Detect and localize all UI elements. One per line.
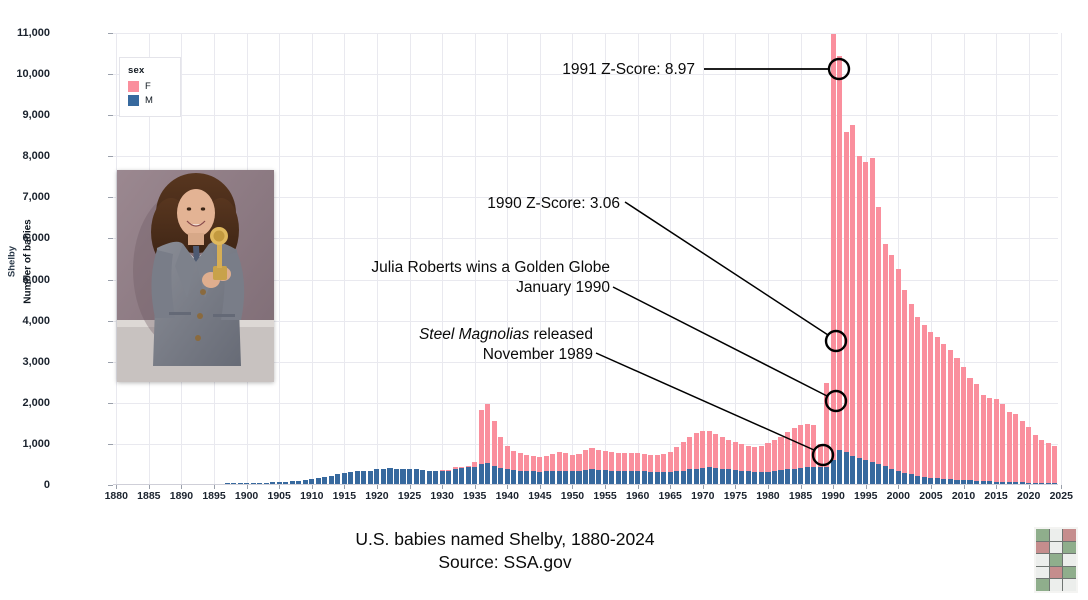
bar-segment-female <box>805 424 810 467</box>
legend-swatch-female <box>128 81 139 92</box>
bar-segment-male <box>720 469 725 485</box>
x-axis-tick-label: 2020 <box>1017 490 1040 502</box>
bar-column[interactable] <box>589 448 594 485</box>
bar-segment-male <box>818 467 823 485</box>
bar-column[interactable] <box>518 453 523 485</box>
bar-column[interactable] <box>400 469 405 485</box>
caption-source: Source: SSA.gov <box>0 551 1010 574</box>
bar-segment-male <box>616 471 621 485</box>
logo-cell <box>1036 554 1049 566</box>
bar-column[interactable] <box>596 450 601 485</box>
y-axis-tick-mark <box>108 156 113 157</box>
logo-cell <box>1063 579 1076 591</box>
bar-column[interactable] <box>954 358 959 485</box>
bar-column[interactable] <box>440 470 445 485</box>
bar-segment-female <box>498 437 503 468</box>
bar-segment-female <box>603 451 608 470</box>
bar-segment-male <box>498 468 503 485</box>
bar-segment-female <box>909 304 914 475</box>
bar-segment-female <box>707 431 712 467</box>
bar-column[interactable] <box>739 444 744 485</box>
bar-segment-male <box>479 464 484 485</box>
bar-column[interactable] <box>720 437 725 485</box>
bar-column[interactable] <box>896 269 901 485</box>
x-axis-tick-label: 1990 <box>821 490 844 502</box>
bar-column[interactable] <box>928 332 933 485</box>
bar-column[interactable] <box>818 444 823 485</box>
legend[interactable]: sex F M <box>119 57 181 117</box>
x-axis-tick-label: 1900 <box>235 490 258 502</box>
bar-column[interactable] <box>850 125 855 485</box>
bar-column[interactable] <box>427 471 432 485</box>
bar-column[interactable] <box>915 317 920 485</box>
bar-segment-female <box>876 207 881 464</box>
bar-column[interactable] <box>837 56 842 485</box>
y-axis-outer-title: Shelby <box>7 212 18 312</box>
bar-column[interactable] <box>570 455 575 485</box>
bar-segment-female <box>759 446 764 472</box>
bar-column[interactable] <box>420 470 425 485</box>
bar-column[interactable] <box>792 428 797 485</box>
bar-segment-female <box>896 269 901 470</box>
y-axis-tick-label: 5,000 <box>0 274 50 286</box>
bar-segment-male <box>400 469 405 485</box>
bar-column[interactable] <box>466 466 471 485</box>
x-axis-tick-label: 1955 <box>593 490 616 502</box>
bar-column[interactable] <box>368 471 373 485</box>
bar-segment-female <box>492 421 497 466</box>
bar-segment-male <box>518 471 523 485</box>
bar-column[interactable] <box>785 432 790 485</box>
bar-column[interactable] <box>374 469 379 485</box>
bar-segment-male <box>896 471 901 485</box>
x-axis-tick-mark <box>442 485 443 489</box>
bar-segment-female <box>889 255 894 469</box>
bar-segment-female <box>570 455 575 471</box>
bar-column[interactable] <box>1013 414 1018 485</box>
bar-column[interactable] <box>674 447 679 485</box>
bar-column[interactable] <box>635 453 640 485</box>
bar-segment-male <box>850 456 855 485</box>
bar-segment-male <box>459 468 464 485</box>
x-axis-tick-label: 1980 <box>756 490 779 502</box>
bar-segment-male <box>505 469 510 485</box>
bar-column[interactable] <box>798 425 803 485</box>
logo-cell <box>1063 554 1076 566</box>
bar-segment-female <box>505 446 510 469</box>
x-axis-tick-mark <box>605 485 606 489</box>
y-axis-tick-label: 2,000 <box>0 397 50 409</box>
bar-column[interactable] <box>1039 440 1044 485</box>
x-axis-tick-label: 1930 <box>430 490 453 502</box>
bar-segment-male <box>883 466 888 485</box>
x-axis-tick-label: 1975 <box>724 490 747 502</box>
bar-column[interactable] <box>889 255 894 485</box>
x-axis-line <box>113 484 1058 485</box>
bar-segment-female <box>1020 421 1025 483</box>
bar-segment-female <box>948 350 953 479</box>
bar-column[interactable] <box>948 350 953 485</box>
y-axis-tick-label: 4,000 <box>0 315 50 327</box>
bar-segment-male <box>694 469 699 485</box>
bar-column[interactable] <box>576 454 581 485</box>
bar-column[interactable] <box>609 452 614 485</box>
bar-column[interactable] <box>505 446 510 485</box>
x-axis-tick-label: 2000 <box>887 490 910 502</box>
bar-segment-male <box>407 469 412 485</box>
bar-column[interactable] <box>681 442 686 485</box>
x-axis-tick-label: 2010 <box>952 490 975 502</box>
x-axis-tick-label: 1965 <box>659 490 682 502</box>
bar-segment-male <box>778 470 783 485</box>
bar-segment-male <box>733 470 738 485</box>
bar-segment-female <box>1013 414 1018 482</box>
y-axis-tick-label: 9,000 <box>0 109 50 121</box>
bar-column[interactable] <box>1052 446 1057 485</box>
bar-segment-female <box>785 432 790 469</box>
bar-segment-male <box>707 467 712 485</box>
x-axis-tick-mark <box>931 485 932 489</box>
bar-column[interactable] <box>642 454 647 485</box>
bar-segment-male <box>863 460 868 485</box>
bar-segment-male <box>674 471 679 485</box>
bar-column[interactable] <box>707 431 712 485</box>
y-axis-tick-mark <box>108 115 113 116</box>
legend-item-f[interactable]: F <box>128 81 172 92</box>
bar-segment-female <box>746 446 751 471</box>
x-axis-tick-label: 1960 <box>626 490 649 502</box>
bar-column[interactable] <box>453 467 458 485</box>
x-axis-tick-mark <box>866 485 867 489</box>
bar-segment-female <box>648 455 653 472</box>
bar-column[interactable] <box>726 440 731 485</box>
y-axis-tick-label: 1,000 <box>0 438 50 450</box>
bar-segment-female <box>544 456 549 471</box>
logo-cell <box>1050 579 1063 591</box>
bar-segment-female <box>798 425 803 468</box>
bar-column[interactable] <box>550 454 555 485</box>
x-axis-tick-mark <box>214 485 215 489</box>
bar-column[interactable] <box>531 456 536 485</box>
bar-column[interactable] <box>485 404 490 485</box>
bar-segment-male <box>726 469 731 485</box>
bar-column[interactable] <box>629 453 634 485</box>
bar-segment-male <box>792 469 797 485</box>
x-axis-tick-mark <box>801 485 802 489</box>
bar-column[interactable] <box>479 410 484 485</box>
bar-column[interactable] <box>694 433 699 485</box>
bar-column[interactable] <box>941 344 946 485</box>
bar-column[interactable] <box>1026 427 1031 485</box>
bar-column[interactable] <box>557 452 562 485</box>
bar-column[interactable] <box>961 367 966 485</box>
legend-swatch-male <box>128 95 139 106</box>
bar-column[interactable] <box>1000 404 1005 485</box>
y-axis-tick-label: 7,000 <box>0 191 50 203</box>
bar-column[interactable] <box>387 468 392 485</box>
logo-cell <box>1036 567 1049 579</box>
bar-segment-female <box>870 158 875 462</box>
photo-illustration <box>117 170 274 382</box>
bar-segment-male <box>485 463 490 485</box>
x-axis-tick-mark <box>833 485 834 489</box>
y-axis-tick-mark <box>108 403 113 404</box>
bar-column[interactable] <box>537 457 542 485</box>
bar-segment-male <box>629 471 634 485</box>
logo-cell <box>1050 542 1063 554</box>
bar-column[interactable] <box>759 446 764 485</box>
x-axis-tick-mark <box>344 485 345 489</box>
bar-segment-female <box>1007 412 1012 482</box>
bar-column[interactable] <box>778 437 783 485</box>
bar-column[interactable] <box>987 398 992 485</box>
bar-segment-male <box>713 468 718 485</box>
bar-segment-female <box>550 454 555 471</box>
bar-column[interactable] <box>511 451 516 485</box>
bar-segment-female <box>616 453 621 471</box>
bar-segment-female <box>792 428 797 468</box>
bar-segment-female <box>863 162 868 460</box>
bar-segment-female <box>1033 435 1038 482</box>
bar-segment-female <box>967 378 972 481</box>
bar-column[interactable] <box>824 383 829 485</box>
bar-column[interactable] <box>935 337 940 485</box>
bar-segment-male <box>374 469 379 485</box>
gridline-vertical <box>1061 33 1062 485</box>
bar-column[interactable] <box>433 471 438 485</box>
bar-column[interactable] <box>844 132 849 485</box>
bar-column[interactable] <box>355 471 360 485</box>
bar-column[interactable] <box>381 469 386 485</box>
y-axis-tick-mark <box>108 74 113 75</box>
bar-segment-female <box>622 453 627 471</box>
bar-segment-male <box>394 469 399 485</box>
x-axis-tick-mark <box>1029 485 1030 489</box>
bar-column[interactable] <box>603 451 608 485</box>
bar-column[interactable] <box>394 469 399 485</box>
bar-segment-female <box>524 455 529 471</box>
bar-segment-female <box>661 454 666 472</box>
bar-segment-female <box>883 244 888 466</box>
x-axis-tick-label: 1885 <box>137 490 160 502</box>
bar-segment-female <box>557 452 562 470</box>
bar-column[interactable] <box>733 442 738 485</box>
bar-segment-female <box>981 395 986 481</box>
x-axis-tick-label: 1985 <box>789 490 812 502</box>
bar-column[interactable] <box>687 437 692 485</box>
bar-column[interactable] <box>1033 435 1038 485</box>
bar-segment-female <box>596 450 601 470</box>
bar-segment-female <box>844 132 849 453</box>
bar-column[interactable] <box>668 452 673 485</box>
x-axis-tick-mark <box>1061 485 1062 489</box>
bar-segment-female <box>694 433 699 468</box>
bar-column[interactable] <box>883 244 888 485</box>
bar-column[interactable] <box>583 450 588 485</box>
y-axis-tick-label: 8,000 <box>0 150 50 162</box>
bar-column[interactable] <box>909 304 914 485</box>
legend-item-m[interactable]: M <box>128 95 172 106</box>
bar-segment-female <box>479 410 484 464</box>
bar-segment-female <box>915 317 920 475</box>
bar-column[interactable] <box>746 446 751 485</box>
bar-segment-female <box>668 452 673 473</box>
x-axis-tick-mark <box>410 485 411 489</box>
bar-segment-female <box>1046 443 1051 483</box>
bar-segment-female <box>902 290 907 473</box>
x-axis-tick-mark <box>735 485 736 489</box>
bar-segment-female <box>765 443 770 472</box>
corner-grid-logo[interactable] <box>1034 527 1078 593</box>
x-axis-tick-label: 1920 <box>365 490 388 502</box>
bar-segment-female <box>974 384 979 481</box>
y-axis-tick-mark <box>108 444 113 445</box>
bar-segment-female <box>681 442 686 471</box>
bar-column[interactable] <box>414 469 419 485</box>
bar-column[interactable] <box>805 424 810 485</box>
bar-segment-male <box>550 471 555 485</box>
bar-column[interactable] <box>863 162 868 485</box>
bar-column[interactable] <box>974 384 979 485</box>
bar-column[interactable] <box>765 443 770 485</box>
bar-segment-female <box>857 156 862 458</box>
bar-column[interactable] <box>772 440 777 485</box>
bar-segment-male <box>563 471 568 485</box>
x-axis-tick-mark <box>898 485 899 489</box>
bar-column[interactable] <box>811 425 816 485</box>
logo-cell <box>1036 579 1049 591</box>
bar-column[interactable] <box>524 455 529 485</box>
bar-column[interactable] <box>831 34 836 485</box>
bar-column[interactable] <box>361 471 366 485</box>
bar-column[interactable] <box>981 395 986 485</box>
x-axis-tick-label: 1950 <box>561 490 584 502</box>
bar-segment-female <box>1026 427 1031 482</box>
bar-column[interactable] <box>857 156 862 485</box>
bar-segment-male <box>531 471 536 485</box>
x-axis-tick-mark <box>181 485 182 489</box>
bar-segment-male <box>589 469 594 485</box>
bar-segment-female <box>850 125 855 456</box>
bar-segment-female <box>1052 446 1057 483</box>
bar-segment-female <box>687 437 692 469</box>
bar-segment-male <box>433 471 438 485</box>
bar-segment-female <box>778 437 783 471</box>
bar-segment-female <box>928 332 933 478</box>
bar-column[interactable] <box>622 453 627 485</box>
bar-segment-female <box>537 457 542 472</box>
bar-column[interactable] <box>492 421 497 485</box>
bar-segment-male <box>746 471 751 485</box>
bar-segment-male <box>387 468 392 485</box>
x-axis-tick-label: 1895 <box>202 490 225 502</box>
bar-column[interactable] <box>498 437 503 485</box>
x-axis-tick-mark <box>507 485 508 489</box>
x-axis-tick-mark <box>312 485 313 489</box>
bar-segment-male <box>381 469 386 485</box>
bar-segment-male <box>805 467 810 485</box>
bar-column[interactable] <box>967 378 972 485</box>
bar-segment-female <box>961 367 966 480</box>
bar-column[interactable] <box>661 454 666 485</box>
bar-segment-female <box>954 358 959 479</box>
y-axis-tick-label: 11,000 <box>0 27 50 39</box>
bar-column[interactable] <box>870 158 875 485</box>
bar-segment-female <box>713 434 718 468</box>
bar-segment-female <box>511 451 516 470</box>
bar-column[interactable] <box>876 207 881 485</box>
bar-column[interactable] <box>713 434 718 485</box>
bar-column[interactable] <box>1046 443 1051 485</box>
bar-segment-female <box>531 456 536 472</box>
bar-segment-male <box>681 471 686 485</box>
bar-column[interactable] <box>752 447 757 485</box>
bar-segment-female <box>1039 440 1044 483</box>
bar-column[interactable] <box>994 399 999 485</box>
bar-segment-male <box>687 469 692 485</box>
bar-segment-female <box>831 34 836 461</box>
bar-column[interactable] <box>700 431 705 485</box>
bar-segment-male <box>368 471 373 485</box>
x-axis-tick-label: 1995 <box>854 490 877 502</box>
bar-segment-male <box>642 471 647 485</box>
x-axis-tick-mark <box>116 485 117 489</box>
bar-segment-male <box>596 470 601 485</box>
x-axis-tick-label: 1970 <box>691 490 714 502</box>
bar-column[interactable] <box>563 453 568 485</box>
bar-segment-female <box>772 440 777 471</box>
bar-segment-female <box>609 452 614 470</box>
bar-segment-male <box>798 468 803 485</box>
bar-segment-female <box>935 337 940 479</box>
logo-cell <box>1036 542 1049 554</box>
bar-column[interactable] <box>407 469 412 485</box>
bar-segment-female <box>1000 404 1005 481</box>
bar-column[interactable] <box>655 455 660 485</box>
bar-column[interactable] <box>1020 421 1025 485</box>
bar-segment-female <box>922 325 927 477</box>
logo-cell <box>1063 567 1076 579</box>
y-axis-tick-label: 3,000 <box>0 356 50 368</box>
bar-segment-male <box>609 471 614 485</box>
bar-segment-female <box>818 444 823 467</box>
legend-title: sex <box>128 65 172 76</box>
logo-cell <box>1063 542 1076 554</box>
bar-column[interactable] <box>902 290 907 485</box>
x-axis-tick-mark <box>540 485 541 489</box>
bar-column[interactable] <box>459 467 464 485</box>
bar-segment-female <box>987 398 992 481</box>
bar-segment-female <box>563 453 568 471</box>
bar-column[interactable] <box>544 456 549 485</box>
bar-segment-female <box>752 447 757 472</box>
bar-segment-male <box>492 466 497 485</box>
bar-column[interactable] <box>922 325 927 485</box>
bar-column[interactable] <box>1007 412 1012 485</box>
y-axis-tick-label: 6,000 <box>0 232 50 244</box>
bar-segment-male <box>361 471 366 485</box>
bar-column[interactable] <box>446 470 451 485</box>
x-axis-tick-label: 1945 <box>528 490 551 502</box>
bar-column[interactable] <box>472 462 477 485</box>
chart-screenshot: { "chart_data": { "type": "bar", "title"… <box>0 0 1088 600</box>
bar-column[interactable] <box>648 455 653 485</box>
logo-grid <box>1036 529 1076 591</box>
x-axis-tick-label: 1935 <box>463 490 486 502</box>
bar-segment-male <box>524 471 529 485</box>
bar-column[interactable] <box>616 453 621 485</box>
legend-label-male: M <box>145 95 153 106</box>
